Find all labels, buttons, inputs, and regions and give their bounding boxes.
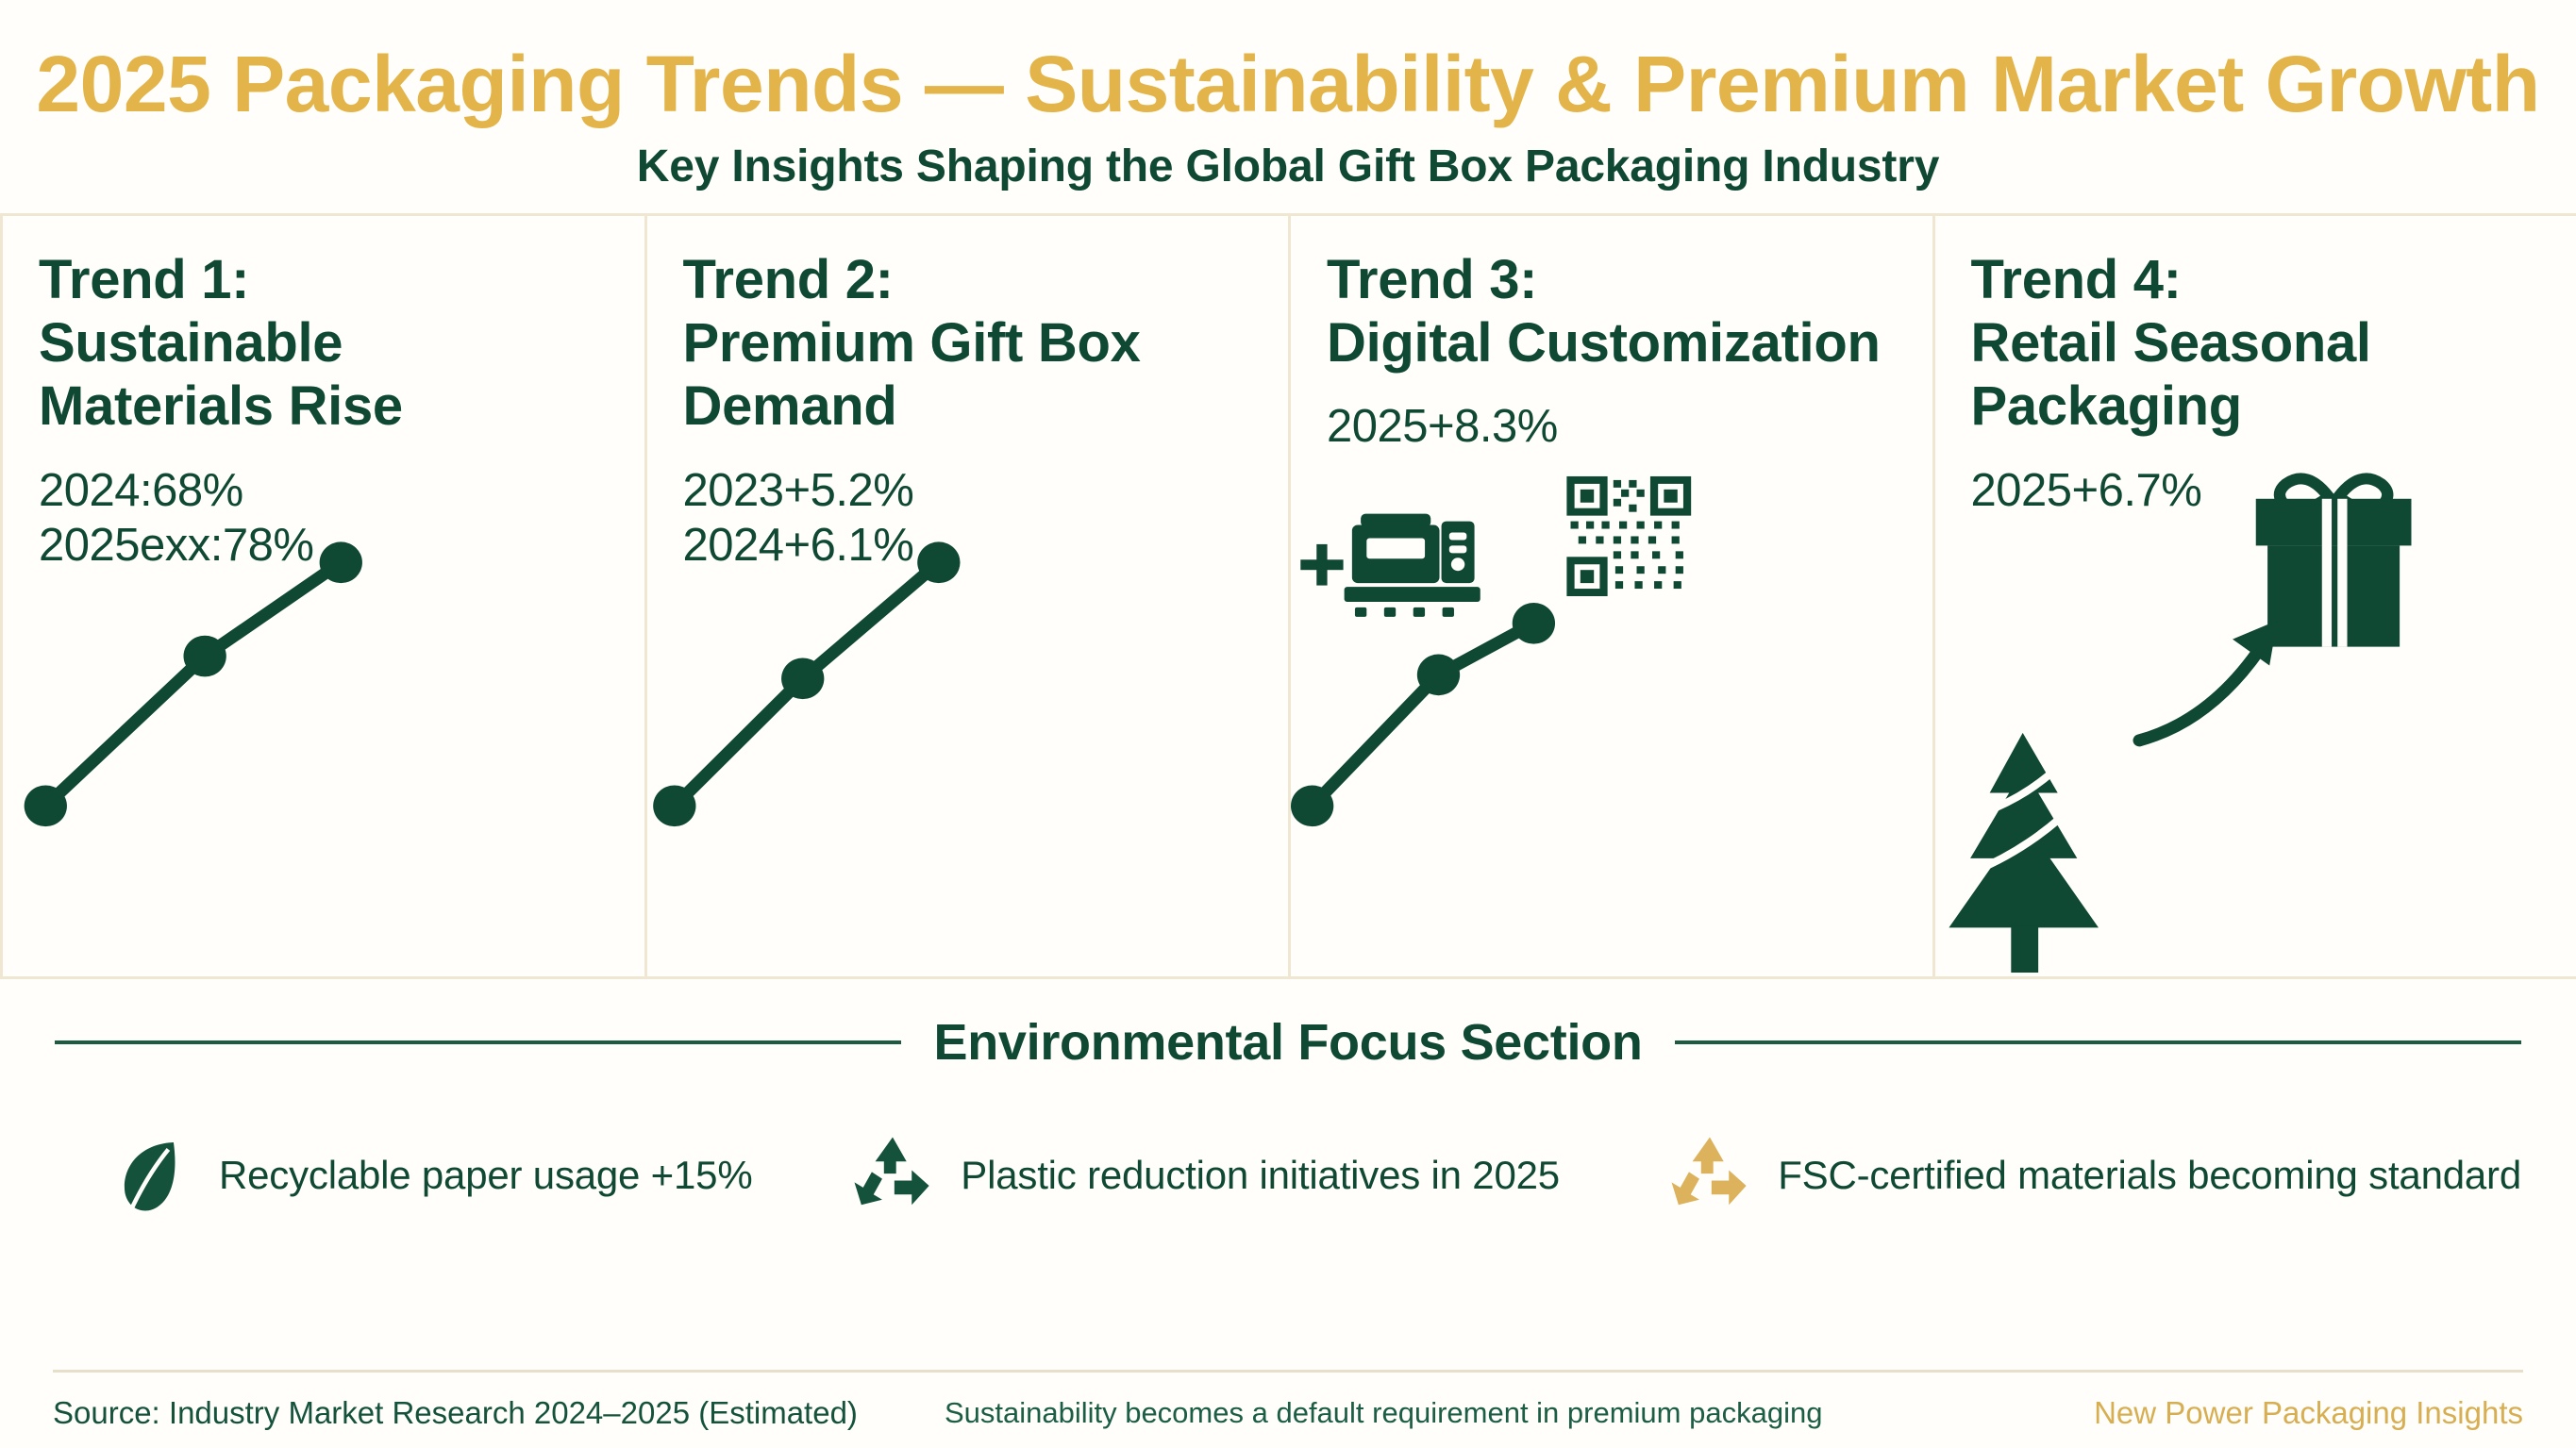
printer-icon	[1345, 513, 1480, 616]
rule-right	[1675, 1040, 2521, 1044]
env-item-label: Recyclable paper usage +15%	[219, 1153, 752, 1198]
env-item-plastic-reduction[interactable]: Plastic reduction initiatives in 2025	[849, 1132, 1666, 1219]
arrow-up-icon	[2139, 621, 2277, 741]
rule-left	[55, 1040, 901, 1044]
page-subtitle: Key Insights Shaping the Global Gift Box…	[0, 141, 2576, 192]
infographic-page: 2025 Packaging Trends — Sustainability &…	[0, 0, 2576, 1448]
env-item-label: FSC-certified materials becoming standar…	[1778, 1153, 2521, 1198]
trend-card-title: Trend 4: Retail Seasonal Packaging	[1971, 248, 2552, 439]
trend-card-stats: 2025+6.7%	[1971, 463, 2552, 519]
environmental-focus-heading: Environmental Focus Section	[55, 1013, 2521, 1072]
trend-cards-row: Trend 1: Sustainable Materials Rise 2024…	[0, 213, 2576, 979]
trend-card-2[interactable]: Trend 2: Premium Gift Box Demand 2023+5.…	[647, 216, 1292, 976]
footer-source: Source: Industry Market Research 2024–20…	[53, 1395, 858, 1431]
header: 2025 Packaging Trends — Sustainability &…	[0, 0, 2576, 192]
environmental-items-row: Recyclable paper usage +15% Plastic redu…	[55, 1132, 2521, 1219]
trend-card-4[interactable]: Trend 4: Retail Seasonal Packaging 2025+…	[1935, 216, 2576, 976]
trend-card-stats: 2024:68% 2025exx:78%	[39, 463, 620, 574]
qr-code-icon	[1571, 480, 1688, 592]
trend-card-stats: 2025+8.3%	[1327, 399, 1908, 455]
recycle-icon	[849, 1132, 936, 1219]
trend-card-title: Trend 2: Premium Gift Box Demand	[683, 248, 1264, 439]
trend-card-title: Trend 3: Digital Customization	[1327, 248, 1908, 375]
leaf-icon	[108, 1132, 194, 1219]
env-item-fsc-certified[interactable]: FSC-certified materials becoming standar…	[1666, 1132, 2521, 1219]
trend-card-1[interactable]: Trend 1: Sustainable Materials Rise 2024…	[0, 216, 647, 976]
footer: Source: Industry Market Research 2024–20…	[53, 1395, 2523, 1431]
footer-divider	[53, 1370, 2523, 1373]
trend-card-stats: 2023+5.2% 2024+6.1%	[683, 463, 1264, 574]
footer-tagline: Sustainability becomes a default require…	[945, 1396, 1823, 1430]
christmas-tree-icon	[1949, 733, 2099, 973]
trend-card-title: Trend 1: Sustainable Materials Rise	[39, 248, 620, 439]
env-item-label: Plastic reduction initiatives in 2025	[961, 1153, 1560, 1198]
trend-card-3[interactable]: Trend 3: Digital Customization 2025+8.3%	[1291, 216, 1935, 976]
environmental-focus-title: Environmental Focus Section	[933, 1013, 1642, 1072]
plus-sign	[1300, 544, 1343, 586]
env-item-recyclable-paper[interactable]: Recyclable paper usage +15%	[108, 1132, 849, 1219]
environmental-focus-section: Environmental Focus Section Recyclable p…	[0, 1013, 2576, 1219]
footer-brand: New Power Packaging Insights	[2094, 1395, 2523, 1431]
recycle-gold-icon	[1666, 1132, 1753, 1219]
page-title: 2025 Packaging Trends — Sustainability &…	[0, 42, 2576, 127]
